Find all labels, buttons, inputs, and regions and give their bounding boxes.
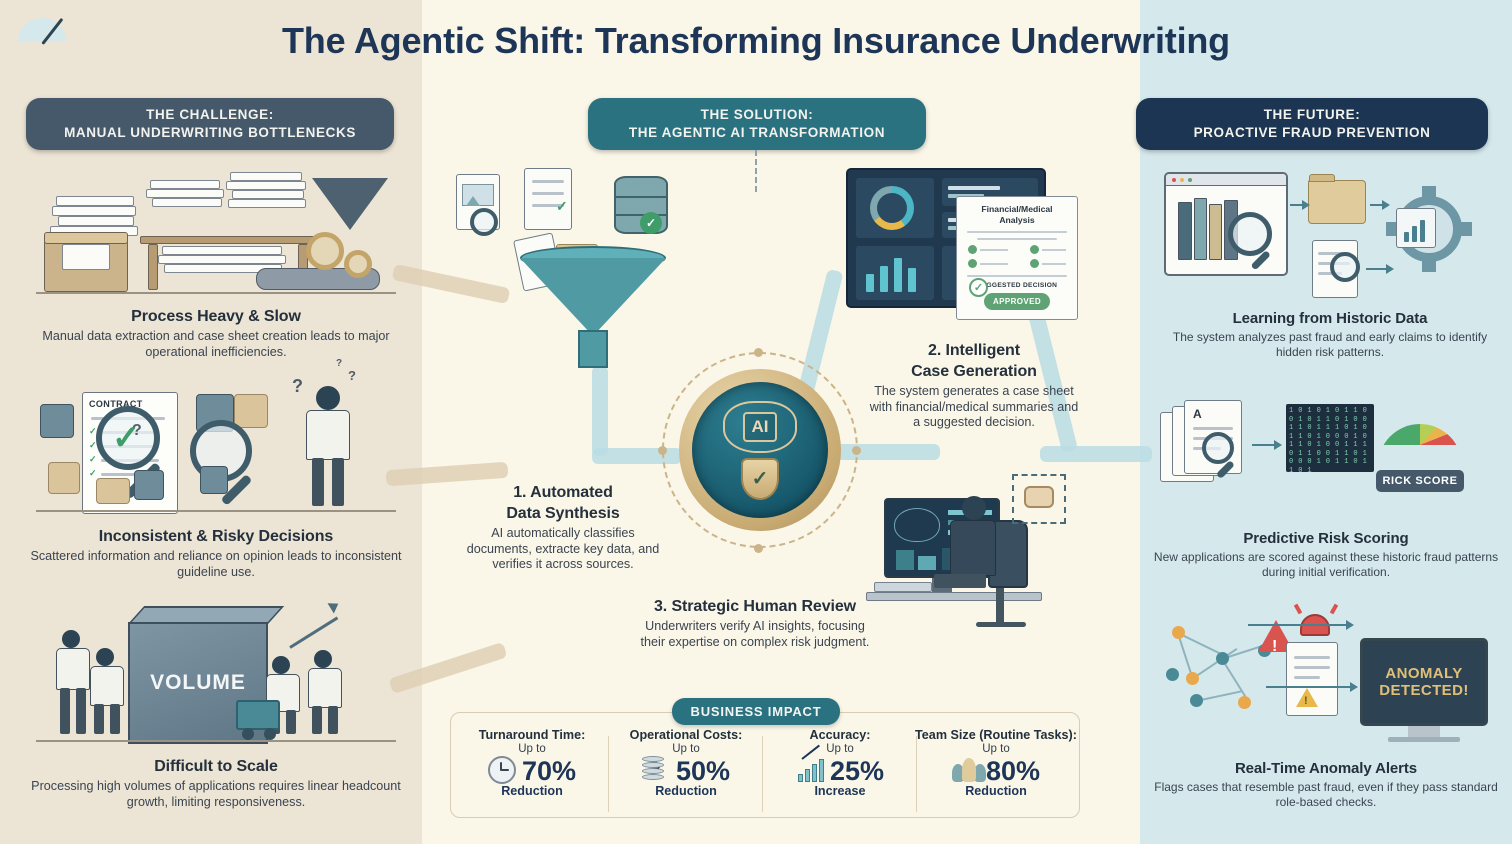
challenge-header-line2: MANUAL UNDERWRITING BOTTLENECKS	[36, 124, 384, 142]
future-item-3-heading: Real-Time Anomaly Alerts	[1144, 760, 1508, 777]
orbit-node	[754, 348, 763, 357]
header-connector	[755, 150, 757, 192]
metric-1-kind: Reduction	[456, 784, 608, 798]
business-impact-badge: BUSINESS IMPACT	[672, 698, 840, 725]
anomaly-line2: DETECTED!	[1379, 682, 1468, 699]
people-icon	[952, 756, 982, 786]
metric-2-label: Operational Costs:	[610, 728, 762, 742]
future-item-2-body: New applications are scored against thes…	[1144, 550, 1508, 580]
metric-3-qualifier: Up to	[764, 743, 916, 755]
metric-3-kind: Increase	[764, 784, 916, 798]
metric-accuracy: Accuracy: Up to 25% Increase	[764, 728, 916, 798]
folder-icon	[1308, 180, 1366, 224]
case-card-title-line2: Analysis	[963, 215, 1071, 226]
funnel-icon	[312, 178, 388, 230]
metric-1-value: 70%	[522, 757, 576, 785]
infographic-canvas: The Agentic Shift: Transforming Insuranc…	[0, 0, 1512, 844]
anomaly-monitor: ANOMALY DETECTED!	[1360, 638, 1488, 726]
metric-2-value: 50%	[676, 757, 730, 785]
challenge-header-line1: THE CHALLENGE:	[36, 106, 384, 124]
challenge-header-pill: THE CHALLENGE: MANUAL UNDERWRITING BOTTL…	[26, 98, 394, 150]
solution-step-3: 3. Strategic Human Review Underwriters v…	[636, 598, 874, 650]
page-title: The Agentic Shift: Transforming Insuranc…	[0, 20, 1512, 62]
challenge-item-1-body: Manual data extraction and case sheet cr…	[30, 329, 402, 360]
challenge-item-3-body: Processing high volumes of applications …	[24, 779, 408, 810]
metric-2-qualifier: Up to	[610, 743, 762, 755]
puzzle-piece	[134, 470, 164, 500]
metric-1-label: Turnaround Time:	[456, 728, 608, 742]
future-item-2: Predictive Risk Scoring New applications…	[1144, 530, 1508, 580]
future-item-3: Real-Time Anomaly Alerts Flags cases tha…	[1144, 760, 1508, 810]
challenge-item-3-heading: Difficult to Scale	[24, 758, 408, 776]
solution-step-2-heading-line1: 2. Intelligent	[866, 342, 1082, 360]
risk-score-label: RICK SCORE	[1376, 470, 1464, 492]
future-item-1-body: The system analyzes past fraud and early…	[1158, 330, 1502, 360]
metric-4-qualifier: Up to	[912, 743, 1080, 755]
solution-step-2-heading-line2: Case Generation	[866, 363, 1082, 381]
solution-step-2-body: The system generates a case sheet with f…	[866, 384, 1082, 431]
solution-step-1-heading-line1: 1. Automated	[466, 484, 660, 502]
ai-chip-label: AI	[743, 412, 777, 442]
ai-hub-core: AI ✓	[692, 382, 828, 518]
future-item-2-heading: Predictive Risk Scoring	[1144, 530, 1508, 547]
case-card-title-line1: Financial/Medical	[963, 204, 1071, 215]
future-header-pill: THE FUTURE: PROACTIVE FRAUD PREVENTION	[1136, 98, 1488, 150]
brain-icon: AI	[723, 401, 797, 453]
metric-turnaround-time: Turnaround Time: Up to 70% Reduction	[456, 728, 608, 798]
challenge-item-3: Difficult to Scale Processing high volum…	[24, 758, 408, 810]
puzzle-piece	[48, 462, 80, 494]
solution-header-pill: THE SOLUTION: THE AGENTIC AI TRANSFORMAT…	[588, 98, 926, 150]
flow-pipe	[1040, 446, 1152, 462]
metric-4-kind: Reduction	[912, 784, 1080, 798]
archive-browser-window	[1164, 172, 1288, 276]
future-item-1-heading: Learning from Historic Data	[1158, 310, 1502, 327]
solution-header-line1: THE SOLUTION:	[598, 106, 916, 124]
metric-team-size: Team Size (Routine Tasks): Up to 80% Red…	[912, 728, 1080, 798]
challenge-item-1-heading: Process Heavy & Slow	[30, 308, 402, 326]
orbit-node	[658, 446, 667, 455]
future-header-line2: PROACTIVE FRAUD PREVENTION	[1146, 124, 1478, 142]
solution-step-3-body: Underwriters verify AI insights, focusin…	[636, 619, 874, 650]
solution-header-line2: THE AGENTIC AI TRANSFORMATION	[598, 124, 916, 142]
metric-3-label: Accuracy:	[764, 728, 916, 742]
growth-chart-icon	[796, 756, 826, 786]
case-sheet-card: Financial/Medical Analysis	[956, 196, 1078, 320]
clock-icon	[488, 756, 518, 786]
magnifier-icon	[1202, 432, 1234, 464]
challenge-item-2: Inconsistent & Risky Decisions Scattered…	[28, 528, 404, 580]
flow-pipe	[592, 366, 608, 456]
challenge-item-1: Process Heavy & Slow Manual data extract…	[30, 308, 402, 360]
keyboard	[874, 582, 932, 592]
approved-check-icon: ✓	[969, 278, 988, 297]
puzzle-piece	[40, 404, 74, 438]
metric-3-value: 25%	[830, 757, 884, 785]
magnifier-icon	[1228, 212, 1272, 256]
puzzle-piece	[96, 478, 130, 504]
donut-chart-icon	[870, 186, 914, 230]
magnifier-icon	[1330, 252, 1360, 282]
metric-2-kind: Reduction	[610, 784, 762, 798]
challenge-item-2-body: Scattered information and reliance on op…	[28, 549, 404, 580]
solution-step-1-heading-line2: Data Synthesis	[466, 505, 660, 523]
orbit-node	[754, 544, 763, 553]
metric-operational-costs: Operational Costs: Up to $ 50% Reduction	[610, 728, 762, 798]
orbit-node	[852, 446, 861, 455]
solution-step-3-heading-line1: 3. Strategic Human Review	[636, 598, 874, 616]
coins-icon: $	[642, 756, 672, 786]
hand-icon	[1024, 486, 1054, 508]
future-item-1: Learning from Historic Data The system a…	[1158, 310, 1502, 360]
anomaly-line1: ANOMALY	[1379, 665, 1468, 682]
future-header-line1: THE FUTURE:	[1146, 106, 1478, 124]
solution-step-2: 2. Intelligent Case Generation The syste…	[866, 342, 1082, 431]
metric-1-qualifier: Up to	[456, 743, 608, 755]
future-item-3-body: Flags cases that resemble past fraud, ev…	[1144, 780, 1508, 810]
magnifier-icon	[470, 208, 498, 236]
solution-step-1-body: AI automatically classifies documents, e…	[466, 526, 660, 573]
gear-icon	[306, 232, 344, 270]
gear-icon	[344, 250, 372, 278]
funnel-icon	[520, 258, 666, 336]
verified-check-icon: ✓	[640, 212, 662, 234]
binary-data-block: 1 0 1 0 1 0 1 1 0 0 1 0 1 1 0 1 0 0 1 1 …	[1286, 404, 1374, 472]
shield-check-icon: ✓	[741, 458, 779, 500]
metric-4-label: Team Size (Routine Tasks):	[912, 728, 1080, 742]
solution-step-1: 1. Automated Data Synthesis AI automatic…	[466, 484, 660, 573]
case-card-status-badge: APPROVED	[984, 293, 1050, 310]
challenge-item-2-heading: Inconsistent & Risky Decisions	[28, 528, 404, 546]
metric-4-value: 80%	[986, 757, 1040, 785]
